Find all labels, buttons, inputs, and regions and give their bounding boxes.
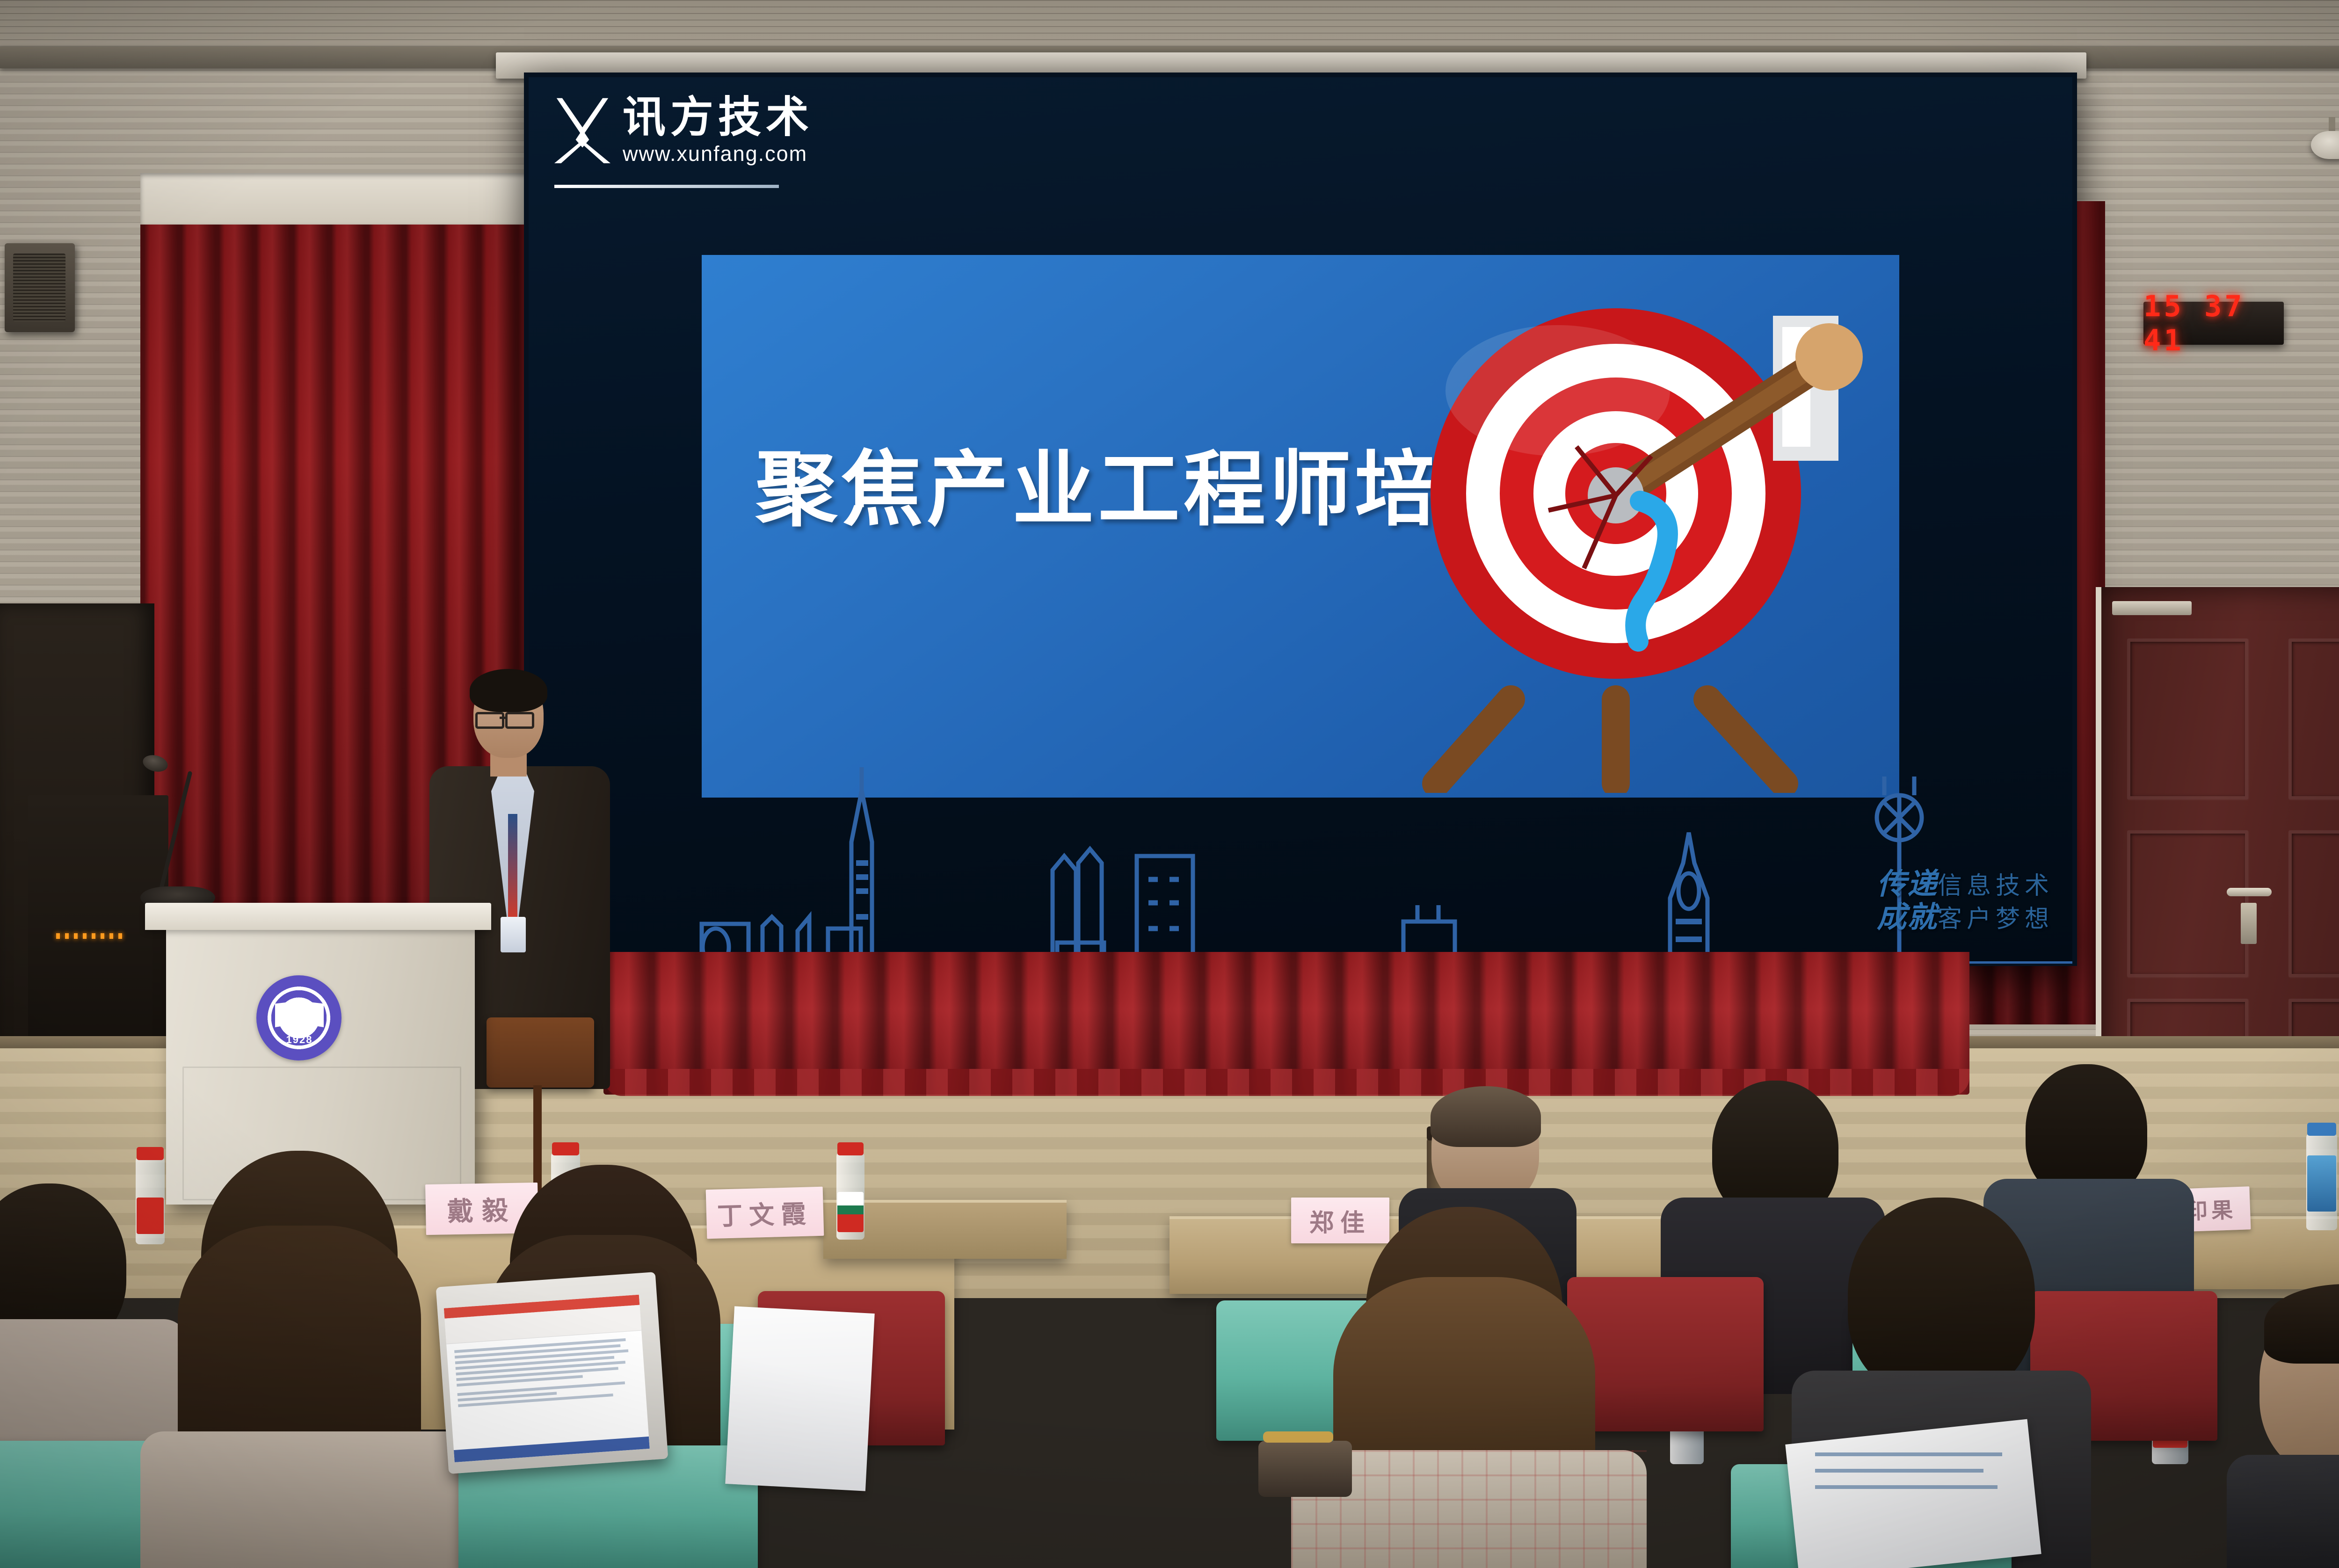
presenter-lanyard bbox=[508, 814, 517, 922]
handbag bbox=[1258, 1441, 1352, 1497]
audience-hair bbox=[1431, 1086, 1541, 1147]
vendor-tagline: 传递信息技术 成就客户梦想 bbox=[1764, 868, 2054, 934]
door-handle-lever[interactable] bbox=[2227, 888, 2272, 896]
handout-line bbox=[1815, 1469, 1983, 1473]
glasses-icon bbox=[475, 712, 504, 729]
tagline-1-bold: 传递 bbox=[1877, 868, 1938, 900]
handout-paper[interactable] bbox=[1785, 1419, 2041, 1568]
handout-line bbox=[1815, 1485, 1998, 1489]
stage-chair-leg bbox=[533, 1085, 542, 1198]
vendor-url: www.xunfang.com bbox=[623, 142, 814, 166]
door-panel bbox=[2127, 639, 2248, 799]
auditorium-scene: 讯方技术 www.xunfang.com 聚焦产业工程师培养 bbox=[0, 0, 2339, 1568]
laptop-screen[interactable] bbox=[444, 1295, 650, 1462]
presenter-badge bbox=[501, 917, 526, 952]
podium-top-surface bbox=[145, 903, 491, 930]
vendor-logo-text: 讯方技术 www.xunfang.com bbox=[623, 96, 814, 166]
tagline-1-thin: 信息技术 bbox=[1938, 872, 2054, 900]
tagline-2-bold: 成就 bbox=[1877, 901, 1938, 934]
presenter-hair bbox=[470, 669, 547, 712]
bottle-cap bbox=[2307, 1123, 2336, 1136]
door-closer bbox=[2112, 601, 2192, 615]
glasses-icon bbox=[505, 712, 534, 729]
bottle-cap bbox=[837, 1142, 864, 1155]
bottle-label bbox=[2307, 1155, 2336, 1212]
vendor-name-cn: 讯方技术 bbox=[623, 96, 814, 139]
audience-body bbox=[140, 1431, 468, 1568]
tagline-line-2: 成就客户梦想 bbox=[1764, 901, 2054, 934]
door-lock-plate[interactable] bbox=[2241, 903, 2257, 944]
vendor-logo: 讯方技术 www.xunfang.com bbox=[554, 96, 814, 173]
name-card: 郑佳 bbox=[1291, 1198, 1389, 1243]
led-wall-clock: 15 37 41 bbox=[2143, 302, 2284, 345]
vendor-logo-underline bbox=[554, 185, 779, 188]
archery-target-with-arrow-icon bbox=[1399, 260, 1867, 793]
av-status-leds bbox=[56, 933, 126, 939]
taskbar[interactable] bbox=[454, 1437, 650, 1462]
wall-speaker bbox=[5, 243, 75, 332]
laptop[interactable] bbox=[436, 1272, 668, 1474]
door-panel bbox=[2288, 830, 2339, 977]
bottle-cap bbox=[552, 1142, 579, 1155]
crest-year: 1928 bbox=[269, 1034, 330, 1046]
audience-head bbox=[1848, 1198, 2035, 1399]
bottle-label bbox=[137, 1198, 164, 1234]
xunfang-x-logo-icon bbox=[554, 96, 610, 166]
tagline-line-1: 传递信息技术 bbox=[1764, 868, 2054, 901]
bottle-cap bbox=[137, 1147, 164, 1160]
handbag-strap bbox=[1263, 1431, 1333, 1443]
name-card: 丁文霞 bbox=[706, 1187, 824, 1239]
handout-line bbox=[1815, 1452, 2002, 1456]
audience-body bbox=[2227, 1455, 2339, 1568]
document-body bbox=[446, 1330, 646, 1414]
clock-time: 15 37 41 bbox=[2143, 289, 2284, 357]
handout-paper[interactable] bbox=[725, 1306, 874, 1491]
glasses-bridge bbox=[500, 717, 506, 719]
slide-content: 聚焦产业工程师培养 bbox=[702, 255, 1899, 798]
stage-chair[interactable] bbox=[487, 1017, 594, 1088]
door-panel bbox=[2288, 639, 2339, 799]
auditorium-seat[interactable] bbox=[1567, 1277, 1764, 1431]
door-panel bbox=[2127, 830, 2248, 977]
bottle-label bbox=[837, 1192, 864, 1232]
tagline-2-thin: 客户梦想 bbox=[1938, 906, 2054, 933]
